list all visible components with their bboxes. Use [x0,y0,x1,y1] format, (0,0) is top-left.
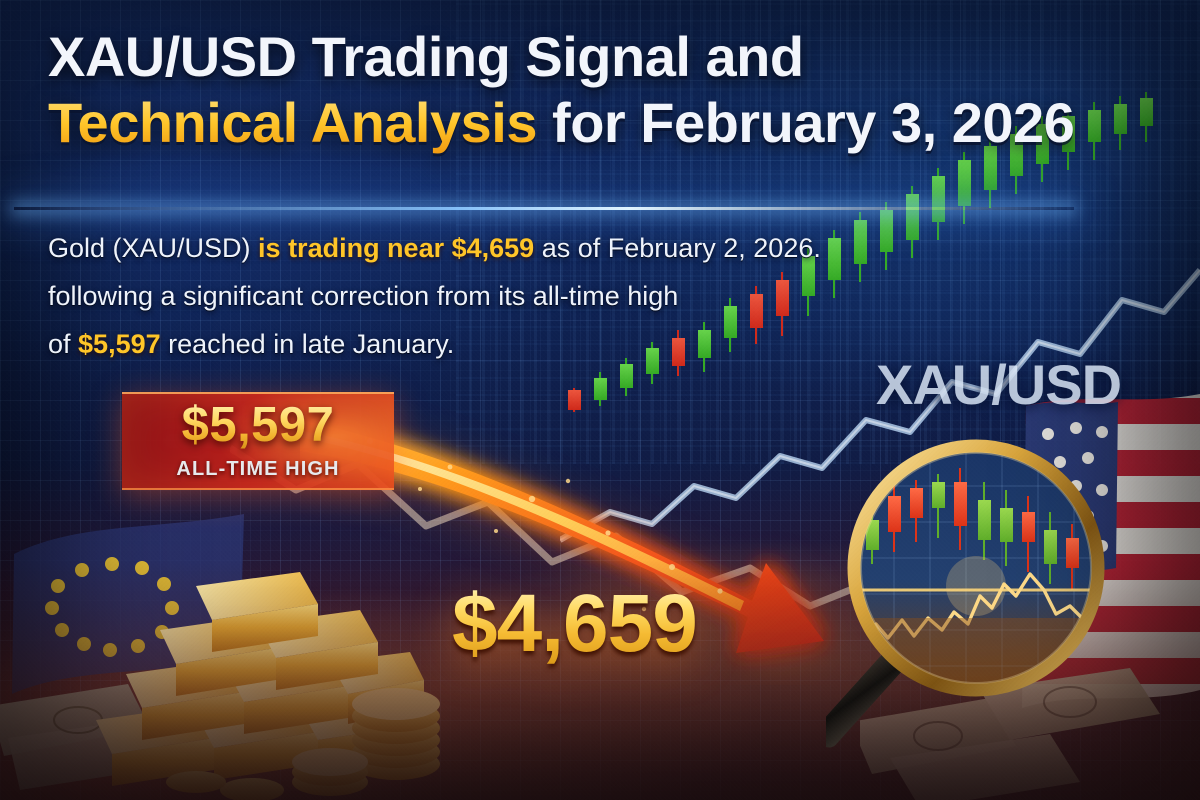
summary-highlight-price: is trading near $4,659 [258,233,534,263]
headline-part-and: and [690,25,803,88]
headline-part-signal: XAU/USD Trading Signal [48,25,690,88]
headline-part-date: for February 3, 2026 [537,91,1074,154]
summary-paragraph: Gold (XAU/USD) is trading near $4,659 as… [48,224,878,368]
headline-line-1: XAU/USD Trading Signal and [48,24,1048,90]
page-title: XAU/USD Trading Signal and Technical Ana… [48,24,1048,155]
summary-text-c: as of February 2, 2026. [534,233,821,263]
symbol-watermark: XAU/USD [876,352,1121,417]
summary-line-3: of $5,597 reached in late January. [48,320,878,368]
summary-text-line2: following a significant correction from … [48,281,678,311]
summary-line-1: Gold (XAU/USD) is trading near $4,659 as… [48,224,878,272]
headline-part-analysis: Technical Analysis [48,91,537,154]
summary-text-d: of [48,329,78,359]
summary-text-a: Gold (XAU/USD) [48,233,258,263]
all-time-high-badge: $5,597 ALL-TIME HIGH [122,392,394,490]
headline-line-2: Technical Analysis for February 3, 2026 [48,90,1048,156]
magnifying-glass [826,438,1126,788]
summary-highlight-ath: $5,597 [78,329,161,359]
ath-badge-label: ALL-TIME HIGH [176,458,339,481]
current-price-value: $4,659 [452,583,697,665]
ath-price-value: $5,597 [182,401,335,450]
infographic-canvas: XAU/USD Trading Signal and Technical Ana… [0,0,1200,800]
summary-line-2: following a significant correction from … [48,272,878,320]
title-divider [14,207,1074,210]
summary-text-f: reached in late January. [161,329,455,359]
